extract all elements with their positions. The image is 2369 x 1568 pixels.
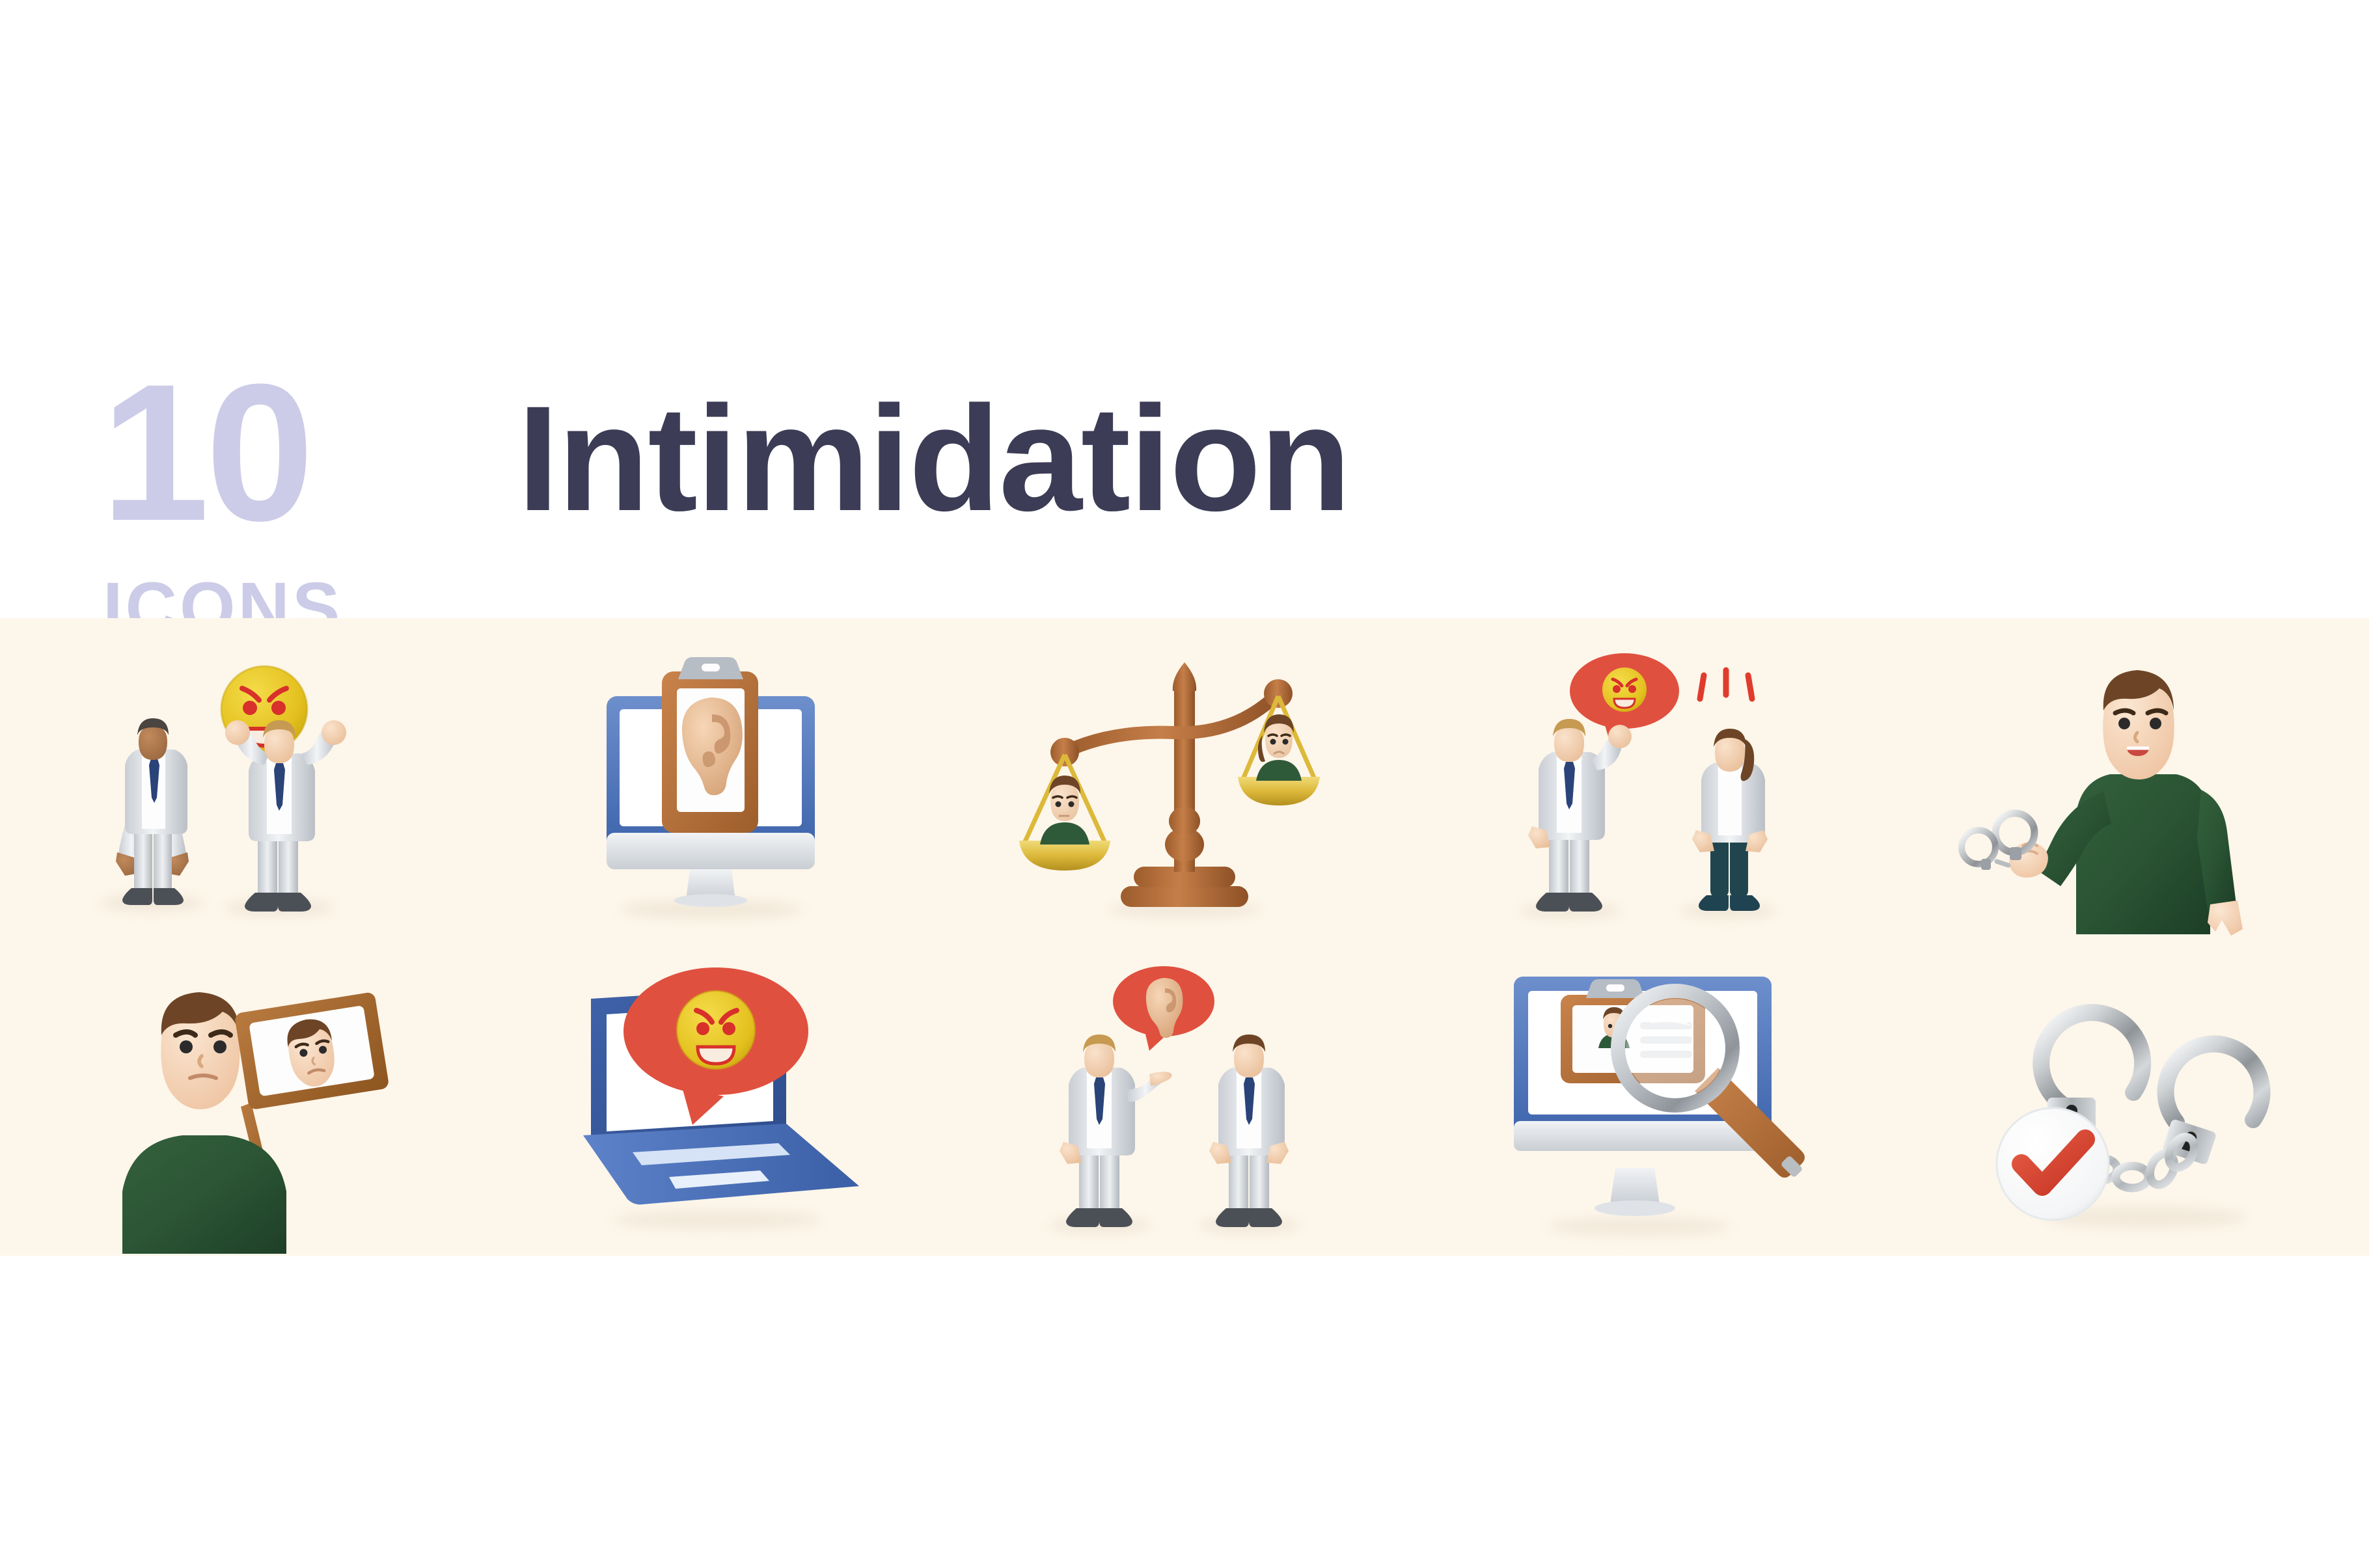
icon-cell-9[interactable] [1421, 950, 1895, 1256]
person-aggressor-male [1528, 719, 1632, 912]
ear-speech-bubble [1113, 966, 1214, 1051]
icon-cell-6[interactable] [0, 950, 474, 1256]
poster-header: 10 ICONS Intimidation [0, 0, 2369, 618]
anger-marks [1700, 670, 1752, 699]
icon-cell-4[interactable] [1421, 634, 1895, 940]
monitor-clipboard-ear-report-icon [528, 638, 893, 937]
person-bystander [116, 718, 189, 905]
scale-person-woman [1256, 714, 1302, 781]
verbal-abuse-two-men-angry-emoji-icon [55, 638, 419, 937]
icon-set-poster: 10 ICONS Intimidation [0, 0, 2369, 1568]
monitor-profile-magnifier-search-icon [1476, 953, 1841, 1252]
two-men-ear-speech-bubble-icon [1002, 953, 1367, 1252]
icon-row-1 [0, 634, 2369, 940]
person-victim-female [1692, 729, 1768, 911]
person-aggressor [225, 720, 346, 912]
person-speaker [1060, 1034, 1172, 1227]
icon-row-2 [0, 950, 2369, 1256]
check-badge [1997, 1108, 2109, 1220]
icon-cell-5[interactable] [1895, 634, 2369, 940]
icon-cell-8[interactable] [948, 950, 1421, 1256]
laptop-cyberbullying-angry-bubble-icon [528, 953, 893, 1252]
icon-count: 10 [101, 355, 310, 550]
scale-person-man [1040, 776, 1089, 845]
page-title: Intimidation [517, 384, 1350, 534]
man-threatening-woman-angry-bubble-icon [1476, 638, 1841, 937]
icon-cell-2[interactable] [474, 634, 948, 940]
icon-cell-1[interactable] [0, 634, 474, 940]
cuff-ring-left [2041, 1012, 2143, 1104]
man-holding-handcuffs-icon [1950, 638, 2314, 937]
scales-of-justice-man-woman-icon [1002, 638, 1367, 937]
icon-cell-7[interactable] [474, 950, 948, 1256]
icon-cell-3[interactable] [948, 634, 1421, 940]
person-listener [1209, 1034, 1289, 1227]
handcuffs-with-red-check-badge-icon [1950, 953, 2314, 1252]
portrait-placard [234, 992, 390, 1110]
man-holding-portrait-placard-icon [55, 953, 419, 1252]
cuff-ring-right [2165, 1044, 2262, 1122]
icon-band [0, 618, 2369, 1256]
icon-cell-10[interactable] [1895, 950, 2369, 1256]
